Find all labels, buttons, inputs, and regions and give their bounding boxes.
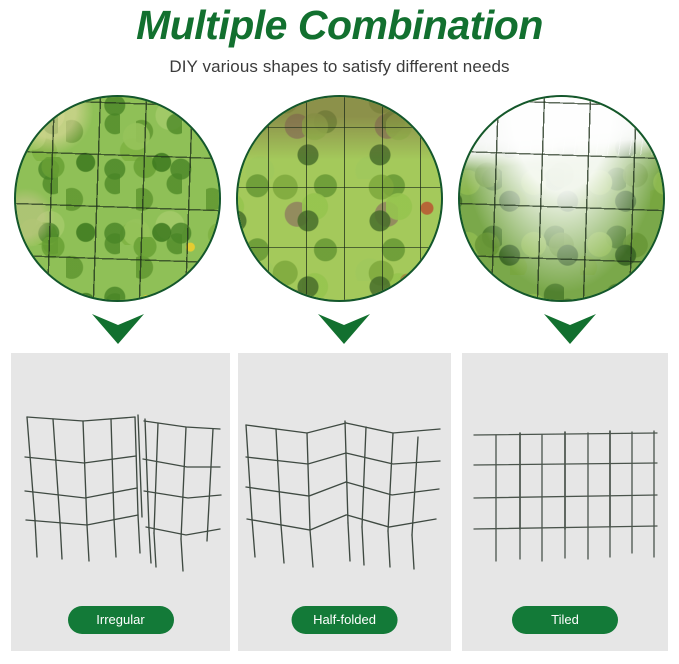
panel-label-tiled[interactable]: Tiled bbox=[512, 606, 618, 634]
trellis-half-folded-illustration bbox=[238, 367, 451, 585]
page-subtitle: DIY various shapes to satisfy different … bbox=[0, 48, 679, 77]
panel-row: Irregular bbox=[0, 353, 679, 651]
arrow-row bbox=[0, 312, 679, 346]
photo-row bbox=[0, 95, 679, 305]
panel-irregular: Irregular bbox=[11, 353, 230, 651]
panel-half-folded: Half-folded bbox=[238, 353, 451, 651]
photo-circle-garden-trellis bbox=[14, 95, 221, 302]
trellis-grid-overlay bbox=[460, 97, 663, 300]
page-title: Multiple Combination bbox=[0, 0, 679, 48]
trellis-irregular-illustration bbox=[11, 367, 230, 585]
header: Multiple Combination DIY various shapes … bbox=[0, 0, 679, 77]
panel-tiled: Tiled bbox=[462, 353, 668, 651]
trellis-tiled-illustration bbox=[462, 367, 668, 585]
trellis-grid-overlay bbox=[16, 97, 219, 300]
chevron-down-icon bbox=[542, 312, 598, 344]
panel-label-irregular[interactable]: Irregular bbox=[68, 606, 174, 634]
photo-circle-dense-garden bbox=[236, 95, 443, 302]
photo-circle-greenhouse bbox=[458, 95, 665, 302]
photo-image-1 bbox=[16, 97, 219, 300]
photo-image-3 bbox=[460, 97, 663, 300]
trellis-grid-overlay bbox=[238, 97, 441, 300]
chevron-down-icon bbox=[90, 312, 146, 344]
panel-label-half-folded[interactable]: Half-folded bbox=[291, 606, 398, 634]
chevron-down-icon bbox=[316, 312, 372, 344]
photo-image-2 bbox=[238, 97, 441, 300]
